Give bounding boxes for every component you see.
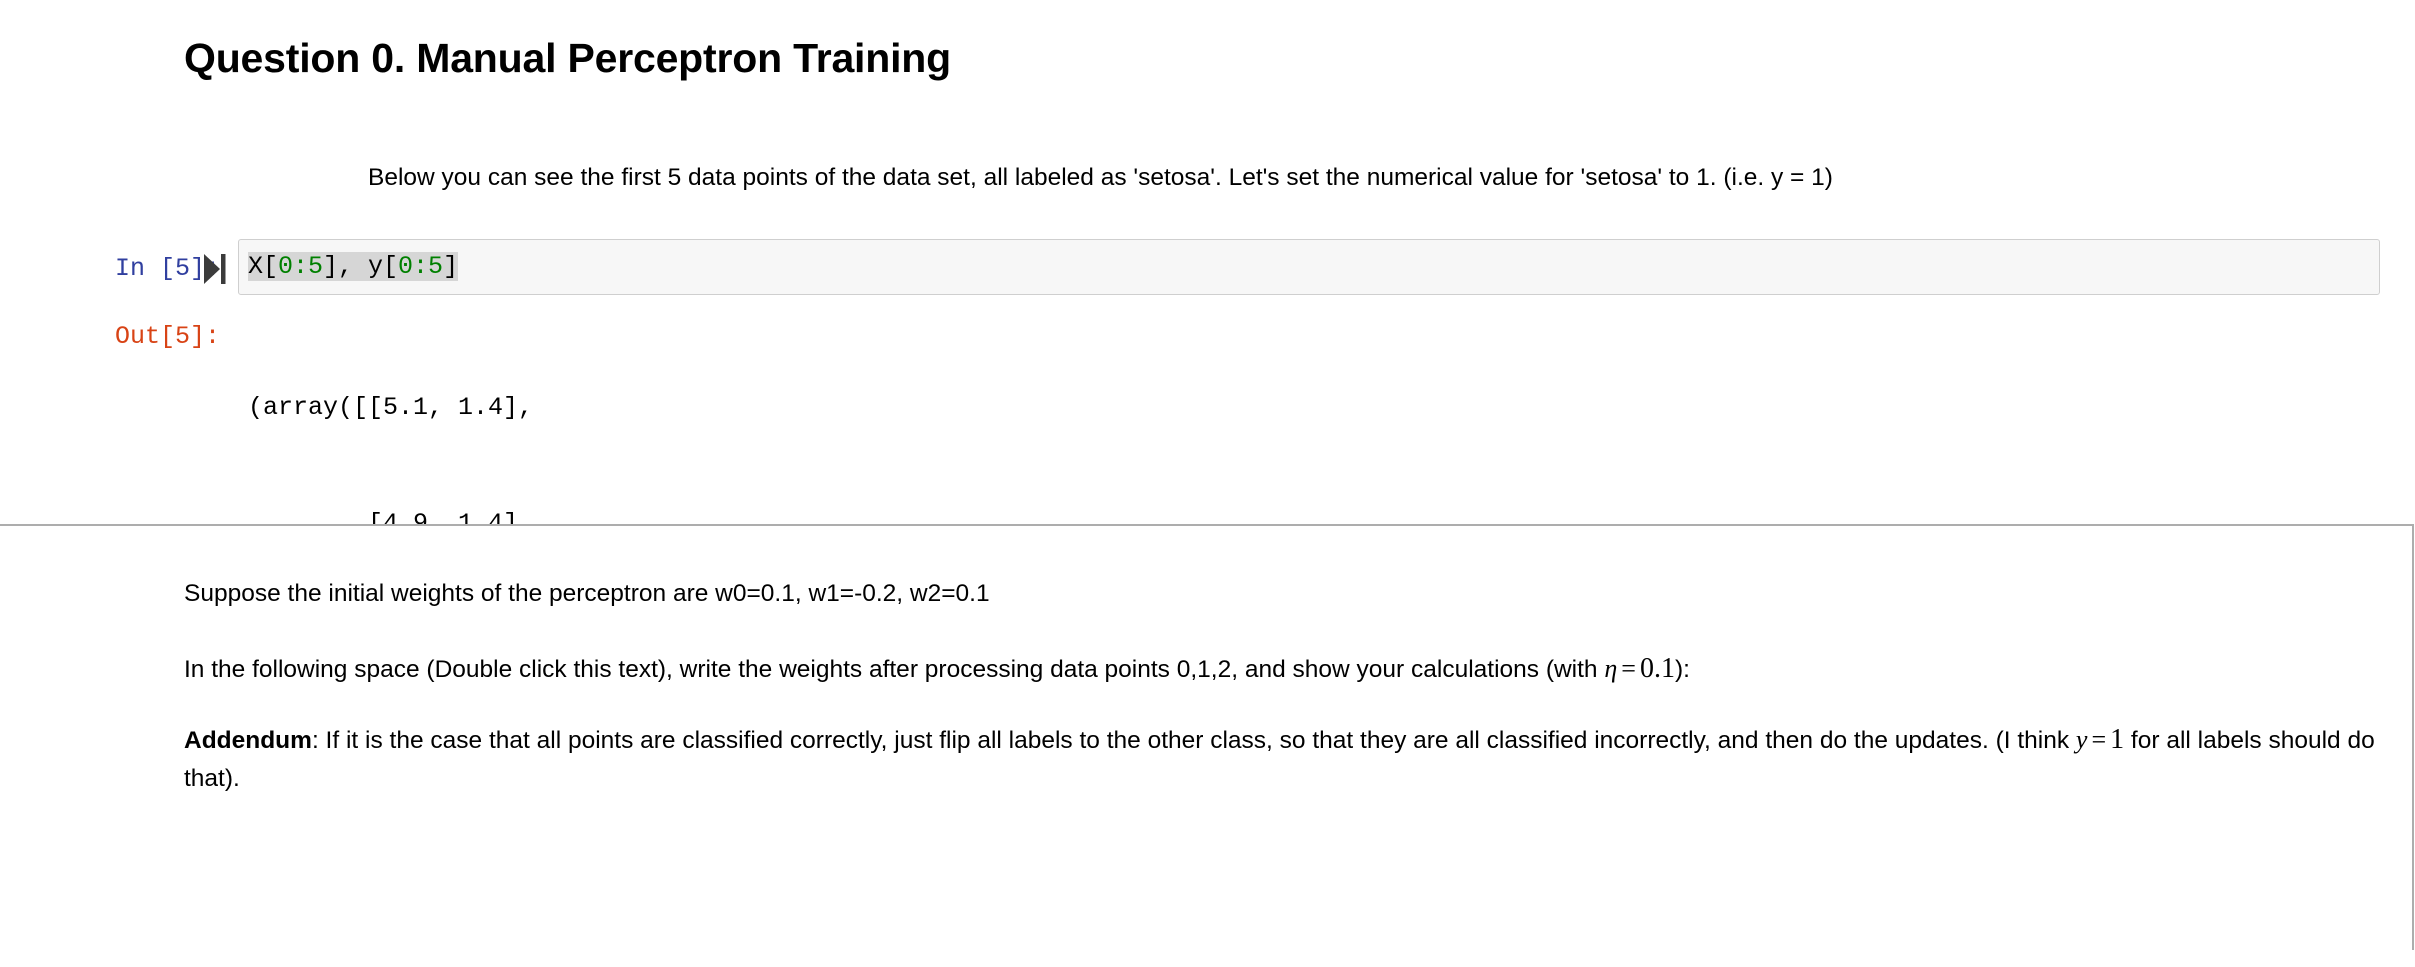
math-eta-expression: η=0.1 (1604, 654, 1675, 683)
markdown-cell-selected[interactable]: Suppose the initial weights of the perce… (0, 524, 2414, 950)
weights-paragraph: Suppose the initial weights of the perce… (184, 576, 2344, 612)
instructions-paragraph: In the following space (Double click thi… (184, 649, 2344, 690)
instructions-text-before: In the following space (Double click thi… (184, 656, 1604, 683)
code-token-plain-3: ] (443, 252, 458, 281)
output-line: (array([[5.1, 1.4], (248, 389, 998, 428)
jupyter-notebook: Question 0. Manual Perceptron Training B… (0, 0, 2415, 950)
code-input-box[interactable]: X[0:5], y[0:5] (238, 239, 2380, 295)
step-forward-icon[interactable] (200, 252, 228, 286)
math-value: 1 (2110, 724, 2124, 755)
code-token-plain-2: ], y[ (323, 252, 398, 281)
math-value: 0.1 (1640, 653, 1675, 684)
addendum-label: Addendum (184, 727, 312, 754)
math-variable-y: y (2076, 725, 2088, 754)
code-token-number-2: 0:5 (398, 252, 443, 281)
math-variable-eta: η (1604, 654, 1617, 683)
math-y-expression: y=1 (2076, 725, 2124, 754)
code-token-plain-1: X[ (248, 252, 278, 281)
code-token-number-1: 0:5 (278, 252, 323, 281)
addendum-paragraph: Addendum: If it is the case that all poi… (184, 720, 2379, 796)
output-prompt-label: Out[5]: (40, 324, 220, 349)
instructions-text-after: ): (1675, 656, 1690, 683)
math-operator: = (2087, 725, 2110, 754)
math-operator: = (1617, 654, 1640, 683)
addendum-text: : If it is the case that all points are … (312, 727, 2076, 754)
code-cell[interactable]: In [5]: X[0:5], y[0:5] Out[5]: (0, 236, 2415, 306)
input-prompt-label: In [5]: (40, 256, 220, 281)
page-title: Question 0. Manual Perceptron Training (184, 34, 951, 83)
intro-paragraph: Below you can see the first 5 data point… (368, 160, 2415, 196)
code-line[interactable]: X[0:5], y[0:5] (248, 248, 458, 286)
